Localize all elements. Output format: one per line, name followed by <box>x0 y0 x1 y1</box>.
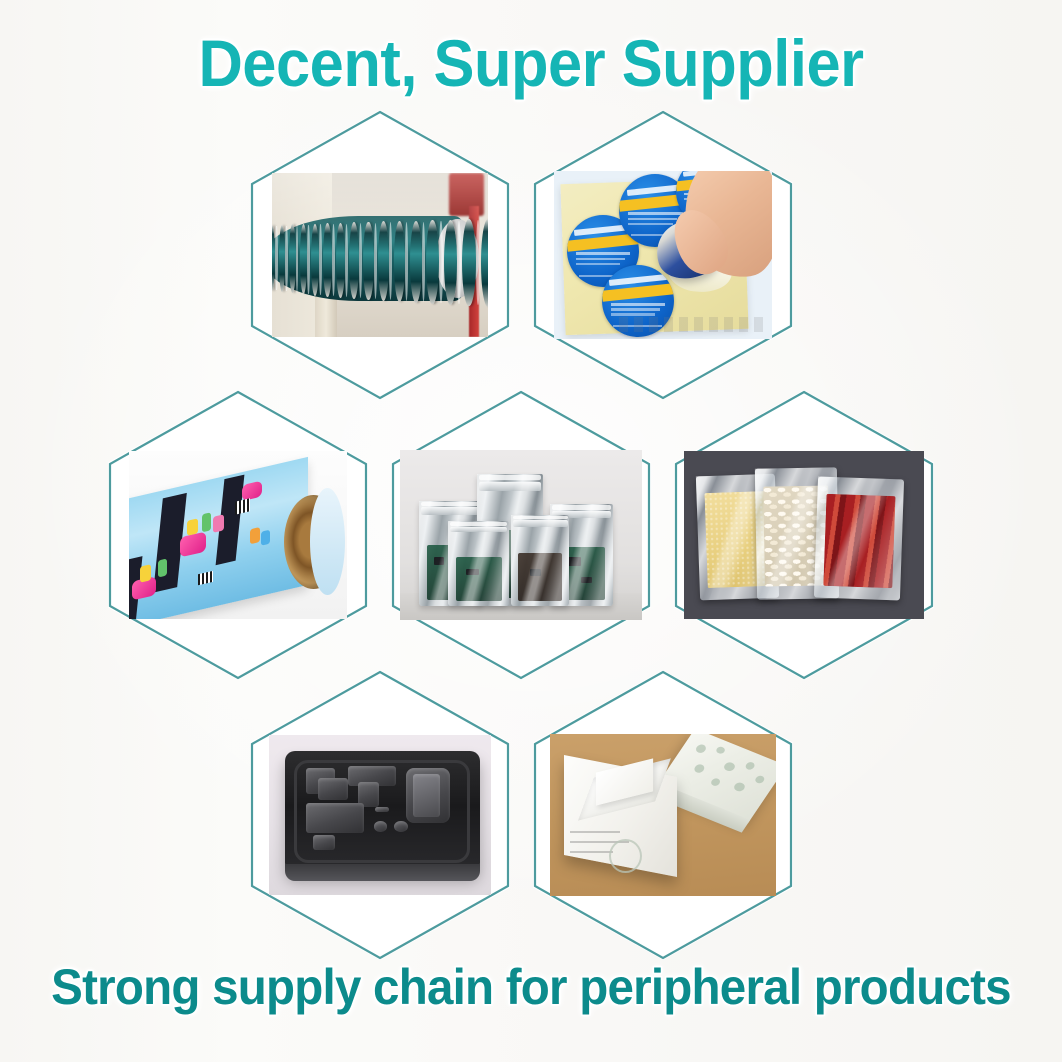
hex-cell-7[interactable] <box>533 670 793 960</box>
honeycomb-gallery <box>0 0 1062 1062</box>
hex-cell-4[interactable] <box>391 390 651 680</box>
hex-cell-3[interactable] <box>108 390 368 680</box>
product-photo-6 <box>269 735 491 895</box>
product-photo-5 <box>684 451 924 619</box>
hex-cell-2[interactable] <box>533 110 793 400</box>
hex-cell-1[interactable] <box>250 110 510 400</box>
page-subtitle: Strong supply chain for peripheral produ… <box>27 958 1036 1016</box>
product-photo-4 <box>400 450 642 620</box>
poster-canvas: Decent, Super Supplier <box>0 0 1062 1062</box>
hex-cell-5[interactable] <box>674 390 934 680</box>
product-photo-3 <box>129 451 347 619</box>
product-photo-7 <box>550 734 776 896</box>
product-photo-1 <box>272 173 488 337</box>
hex-cell-6[interactable] <box>250 670 510 960</box>
product-photo-2 <box>554 171 772 339</box>
